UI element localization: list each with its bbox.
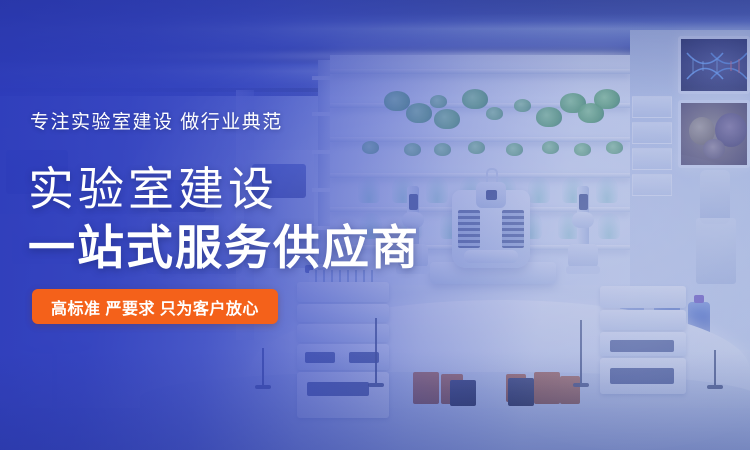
banner-heading-line-2: 一站式服务供应商 <box>28 224 420 271</box>
hero-banner: 专注实验室建设 做行业典范 实验室建设 一站式服务供应商 高标准 严要求 只为客… <box>0 0 750 450</box>
cta-button[interactable]: 高标准 严要求 只为客户放心 <box>32 289 278 324</box>
banner-content: 专注实验室建设 做行业典范 实验室建设 一站式服务供应商 高标准 严要求 只为客… <box>0 0 750 450</box>
banner-subtitle: 专注实验室建设 做行业典范 <box>30 107 283 134</box>
banner-heading-line-1: 实验室建设 <box>28 166 278 212</box>
